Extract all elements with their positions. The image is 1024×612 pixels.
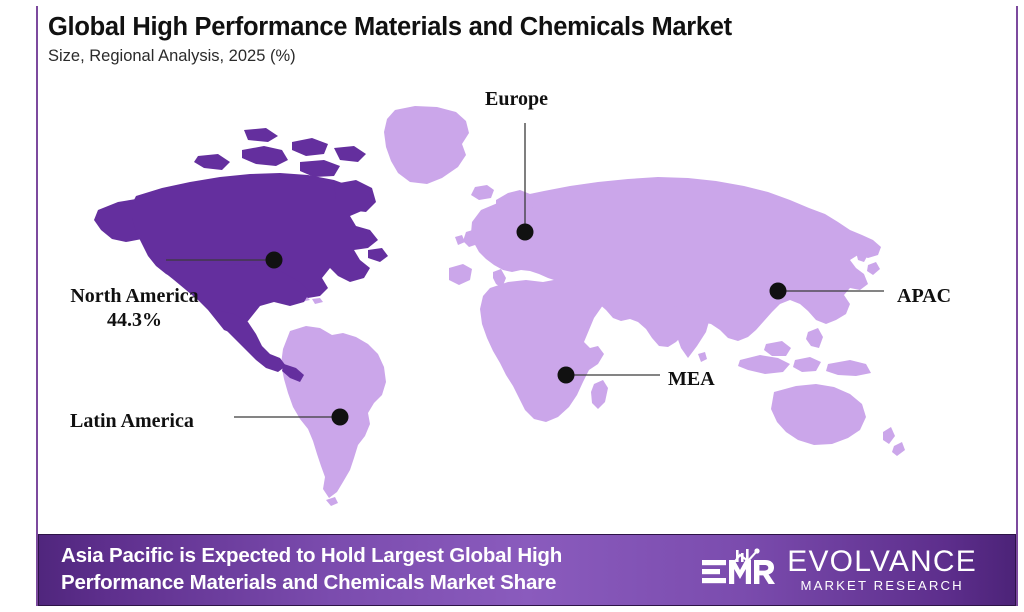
brand-name: EVOLVANCE — [787, 547, 977, 577]
marker-latin-america — [332, 409, 349, 426]
region-new-guinea — [826, 360, 871, 376]
region-africa — [480, 277, 608, 422]
region-india — [672, 304, 710, 358]
region-arctic-island-4 — [334, 146, 366, 162]
region-tierra-del-fuego — [326, 497, 338, 506]
brand-tagline: MARKET RESEARCH — [787, 579, 977, 592]
region-ireland — [455, 235, 465, 245]
region-mexico — [216, 310, 286, 372]
region-iceland — [471, 185, 494, 200]
brand-logo: EVOLVANCE MARKET RESEARCH — [700, 547, 977, 592]
world-map: North America 44.3% Latin America Europe… — [38, 92, 1018, 532]
region-arctic-island-5 — [194, 154, 230, 170]
region-philippines — [806, 328, 823, 348]
region-name-north-america: North America — [70, 285, 198, 307]
region-label-mea: MEA — [668, 368, 715, 392]
region-iberia — [449, 264, 472, 285]
marker-apac — [770, 283, 787, 300]
marker-north-america — [266, 252, 283, 269]
region-new-zealand-2 — [892, 442, 905, 456]
header: Global High Performance Materials and Ch… — [48, 12, 968, 67]
region-label-europe: Europe — [485, 88, 548, 112]
region-label-latin-america: Latin America — [70, 410, 194, 434]
region-japan-2 — [867, 262, 880, 275]
page-subtitle: Size, Regional Analysis, 2025 (%) — [48, 47, 968, 67]
region-label-north-america: North America 44.3% — [52, 285, 217, 332]
marker-mea — [558, 367, 575, 384]
banner-headline: Asia Pacific is Expected to Hold Largest… — [61, 543, 681, 596]
region-indonesia-2 — [793, 357, 821, 372]
region-arctic-island-6 — [244, 128, 278, 142]
region-caribbean-3 — [312, 298, 323, 304]
region-arctic-island-1 — [242, 146, 288, 166]
region-greenland — [384, 106, 469, 184]
region-value-north-america: 44.3% — [52, 309, 217, 333]
page-title: Global High Performance Materials and Ch… — [48, 12, 968, 42]
footer-banner: Asia Pacific is Expected to Hold Largest… — [38, 534, 1016, 606]
region-newfoundland — [368, 248, 388, 262]
map-land-default — [262, 106, 905, 506]
region-arctic-island-2 — [292, 138, 328, 156]
region-borneo — [764, 341, 791, 356]
marker-europe — [517, 224, 534, 241]
region-arctic-island-3 — [300, 160, 340, 177]
region-indonesia-1 — [738, 355, 790, 374]
region-australia — [771, 384, 866, 445]
emr-logo-icon — [700, 548, 778, 592]
brand-wordmark: EVOLVANCE MARKET RESEARCH — [787, 547, 977, 592]
region-madagascar — [591, 380, 608, 409]
region-sri-lanka — [698, 352, 707, 362]
infographic-page: Global High Performance Materials and Ch… — [0, 0, 1024, 612]
region-label-apac: APAC — [897, 285, 951, 309]
region-new-zealand-1 — [883, 427, 895, 444]
